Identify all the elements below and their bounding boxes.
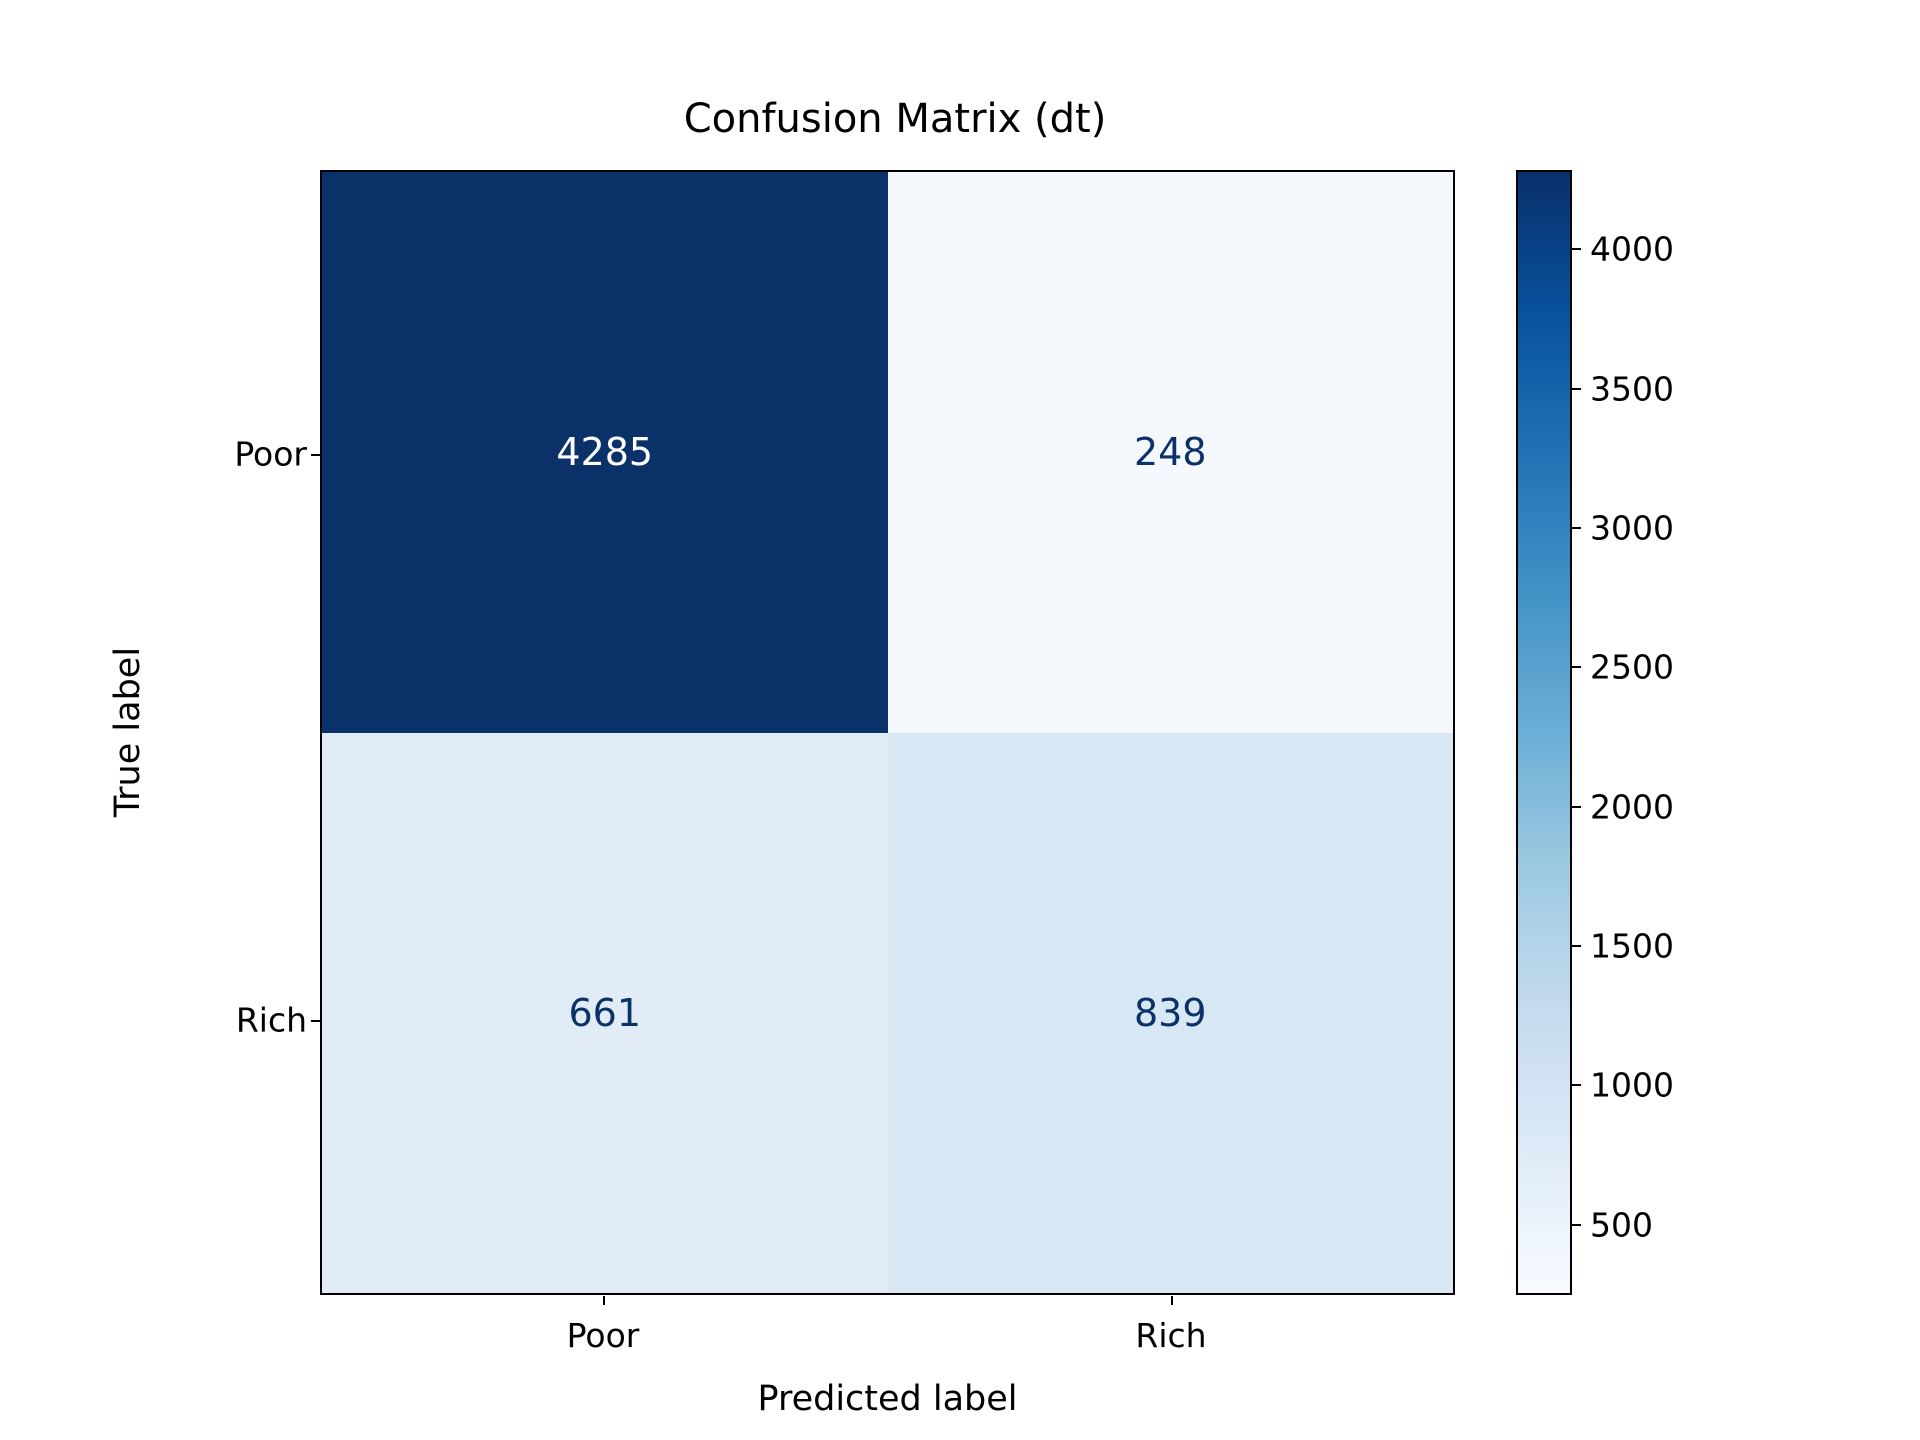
colorbar-tick-label: 1500 [1590, 927, 1674, 966]
colorbar-tick-mark [1572, 527, 1581, 529]
y-tick-mark-poor [311, 454, 320, 456]
colorbar-gradient [1516, 170, 1572, 1295]
colorbar-tick-label: 3000 [1590, 509, 1674, 548]
colorbar-tick-mark [1572, 666, 1581, 668]
x-tick-label-poor: Poor [567, 1316, 640, 1355]
heatmap-cell-poor-rich[interactable]: 248 [888, 172, 1454, 733]
heatmap-cell-value: 839 [1134, 994, 1207, 1032]
heatmap-cell-rich-rich[interactable]: 839 [888, 733, 1454, 1294]
page-title: Confusion Matrix (dt) [0, 96, 1790, 142]
colorbar-tick-label: 4000 [1590, 230, 1674, 269]
colorbar-tick-label: 2000 [1590, 787, 1674, 826]
heatmap-cell-value: 248 [1134, 433, 1207, 471]
colorbar-tick-label: 3500 [1590, 369, 1674, 408]
x-tick-mark-rich [1171, 1296, 1173, 1305]
y-tick-label-poor: Poor [234, 435, 307, 474]
heatmap-plot-area: 4285 248 661 839 [320, 170, 1455, 1295]
colorbar-tick-mark [1572, 945, 1581, 947]
y-tick-mark-rich [311, 1020, 320, 1022]
colorbar-tick-label: 1000 [1590, 1066, 1674, 1105]
colorbar-tick-mark [1572, 388, 1581, 390]
colorbar-tick-label: 500 [1590, 1205, 1653, 1244]
heatmap-cell-rich-poor[interactable]: 661 [322, 733, 888, 1294]
x-axis-label: Predicted label [320, 1379, 1455, 1419]
colorbar-tick-mark [1572, 248, 1581, 250]
colorbar-tick-label: 2500 [1590, 648, 1674, 687]
colorbar-tick-mark [1572, 806, 1581, 808]
y-tick-label-rich: Rich [236, 1001, 307, 1040]
heatmap-cell-value: 4285 [556, 433, 653, 471]
x-tick-label-rich: Rich [1135, 1316, 1206, 1355]
figure-canvas: Confusion Matrix (dt) 4285 248 661 839 P… [0, 0, 1920, 1440]
x-tick-mark-poor [603, 1296, 605, 1305]
colorbar-tick-mark [1572, 1084, 1581, 1086]
colorbar [1516, 170, 1572, 1295]
heatmap-cell-poor-poor[interactable]: 4285 [322, 172, 888, 733]
colorbar-tick-mark [1572, 1224, 1581, 1226]
heatmap-grid: 4285 248 661 839 [322, 172, 1453, 1293]
y-axis-label: True label [108, 647, 148, 817]
heatmap-cell-value: 661 [568, 994, 641, 1032]
